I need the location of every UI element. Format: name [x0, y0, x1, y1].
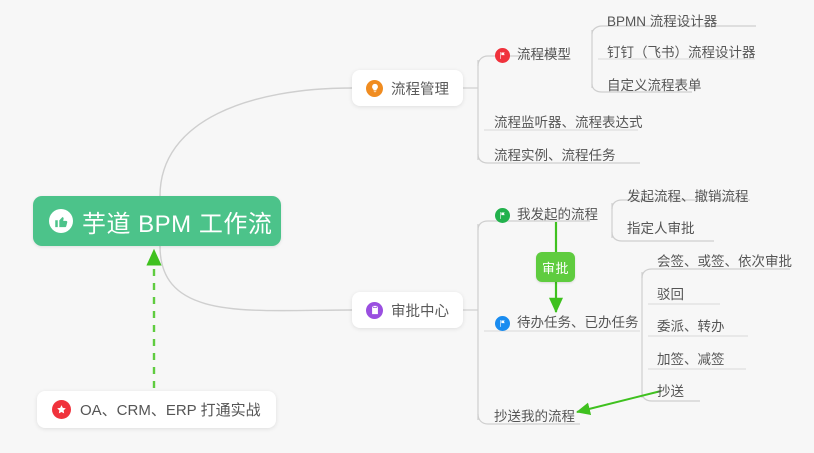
node-add-remove-sign[interactable]: 加签、减签: [651, 349, 731, 374]
node-label-todo-done-tasks: 待办任务、已办任务: [517, 315, 639, 332]
node-process-listener[interactable]: 流程监听器、流程表达式: [488, 112, 649, 137]
node-process-instance[interactable]: 流程实例、流程任务: [488, 145, 622, 170]
node-process-model[interactable]: 流程模型: [489, 44, 577, 69]
lightbulb-icon: [366, 80, 383, 97]
annotation-approval-pill: 审批: [536, 252, 575, 282]
node-dingtalk-designer[interactable]: 钉钉（飞书）流程设计器: [601, 42, 762, 67]
root-node[interactable]: 芋道 BPM 工作流: [33, 196, 281, 246]
root-node-label: 芋道 BPM 工作流: [82, 204, 272, 239]
node-label-process-model: 流程模型: [517, 47, 571, 64]
flag-icon: [495, 48, 510, 63]
branch-label-process-management: 流程管理: [391, 78, 449, 99]
branch-label-approval-center: 审批中心: [391, 300, 449, 321]
arrow-cc-to-cc-mine: [577, 391, 661, 412]
connector-root-to-approval-center: [160, 246, 352, 311]
node-countersign[interactable]: 会签、或签、依次审批: [651, 251, 798, 276]
node-cc-to-me[interactable]: 抄送我的流程: [488, 406, 581, 431]
connector-root-to-process-management: [160, 88, 352, 196]
node-delegate-transfer[interactable]: 委派、转办: [651, 316, 731, 341]
mindmap-canvas: 芋道 BPM 工作流 流程管理 审批中心 流程模型 流程监听器、流程表达式 流程…: [0, 0, 814, 453]
annotation-integration-label: OA、CRM、ERP 打通实战: [80, 399, 261, 420]
node-label-my-initiated: 我发起的流程: [517, 207, 598, 224]
node-todo-done-tasks[interactable]: 待办任务、已办任务: [489, 312, 645, 337]
clipboard-icon: [366, 302, 383, 319]
flag-icon: [495, 316, 510, 331]
node-my-initiated[interactable]: 我发起的流程: [489, 204, 604, 229]
star-icon: [52, 400, 71, 419]
node-custom-form[interactable]: 自定义流程表单: [601, 75, 708, 100]
node-reject[interactable]: 驳回: [651, 284, 690, 309]
node-carbon-copy[interactable]: 抄送: [651, 381, 690, 406]
branch-node-process-management[interactable]: 流程管理: [352, 70, 463, 106]
node-bpmn-designer[interactable]: BPMN 流程设计器: [601, 11, 723, 36]
annotation-integration-callout[interactable]: OA、CRM、ERP 打通实战: [37, 391, 276, 428]
thumbs-up-icon: [49, 209, 73, 233]
flag-icon: [495, 208, 510, 223]
node-assigned-approval[interactable]: 指定人审批: [621, 218, 701, 243]
branch-node-approval-center[interactable]: 审批中心: [352, 292, 463, 328]
node-start-cancel-process[interactable]: 发起流程、撤销流程: [621, 186, 755, 211]
